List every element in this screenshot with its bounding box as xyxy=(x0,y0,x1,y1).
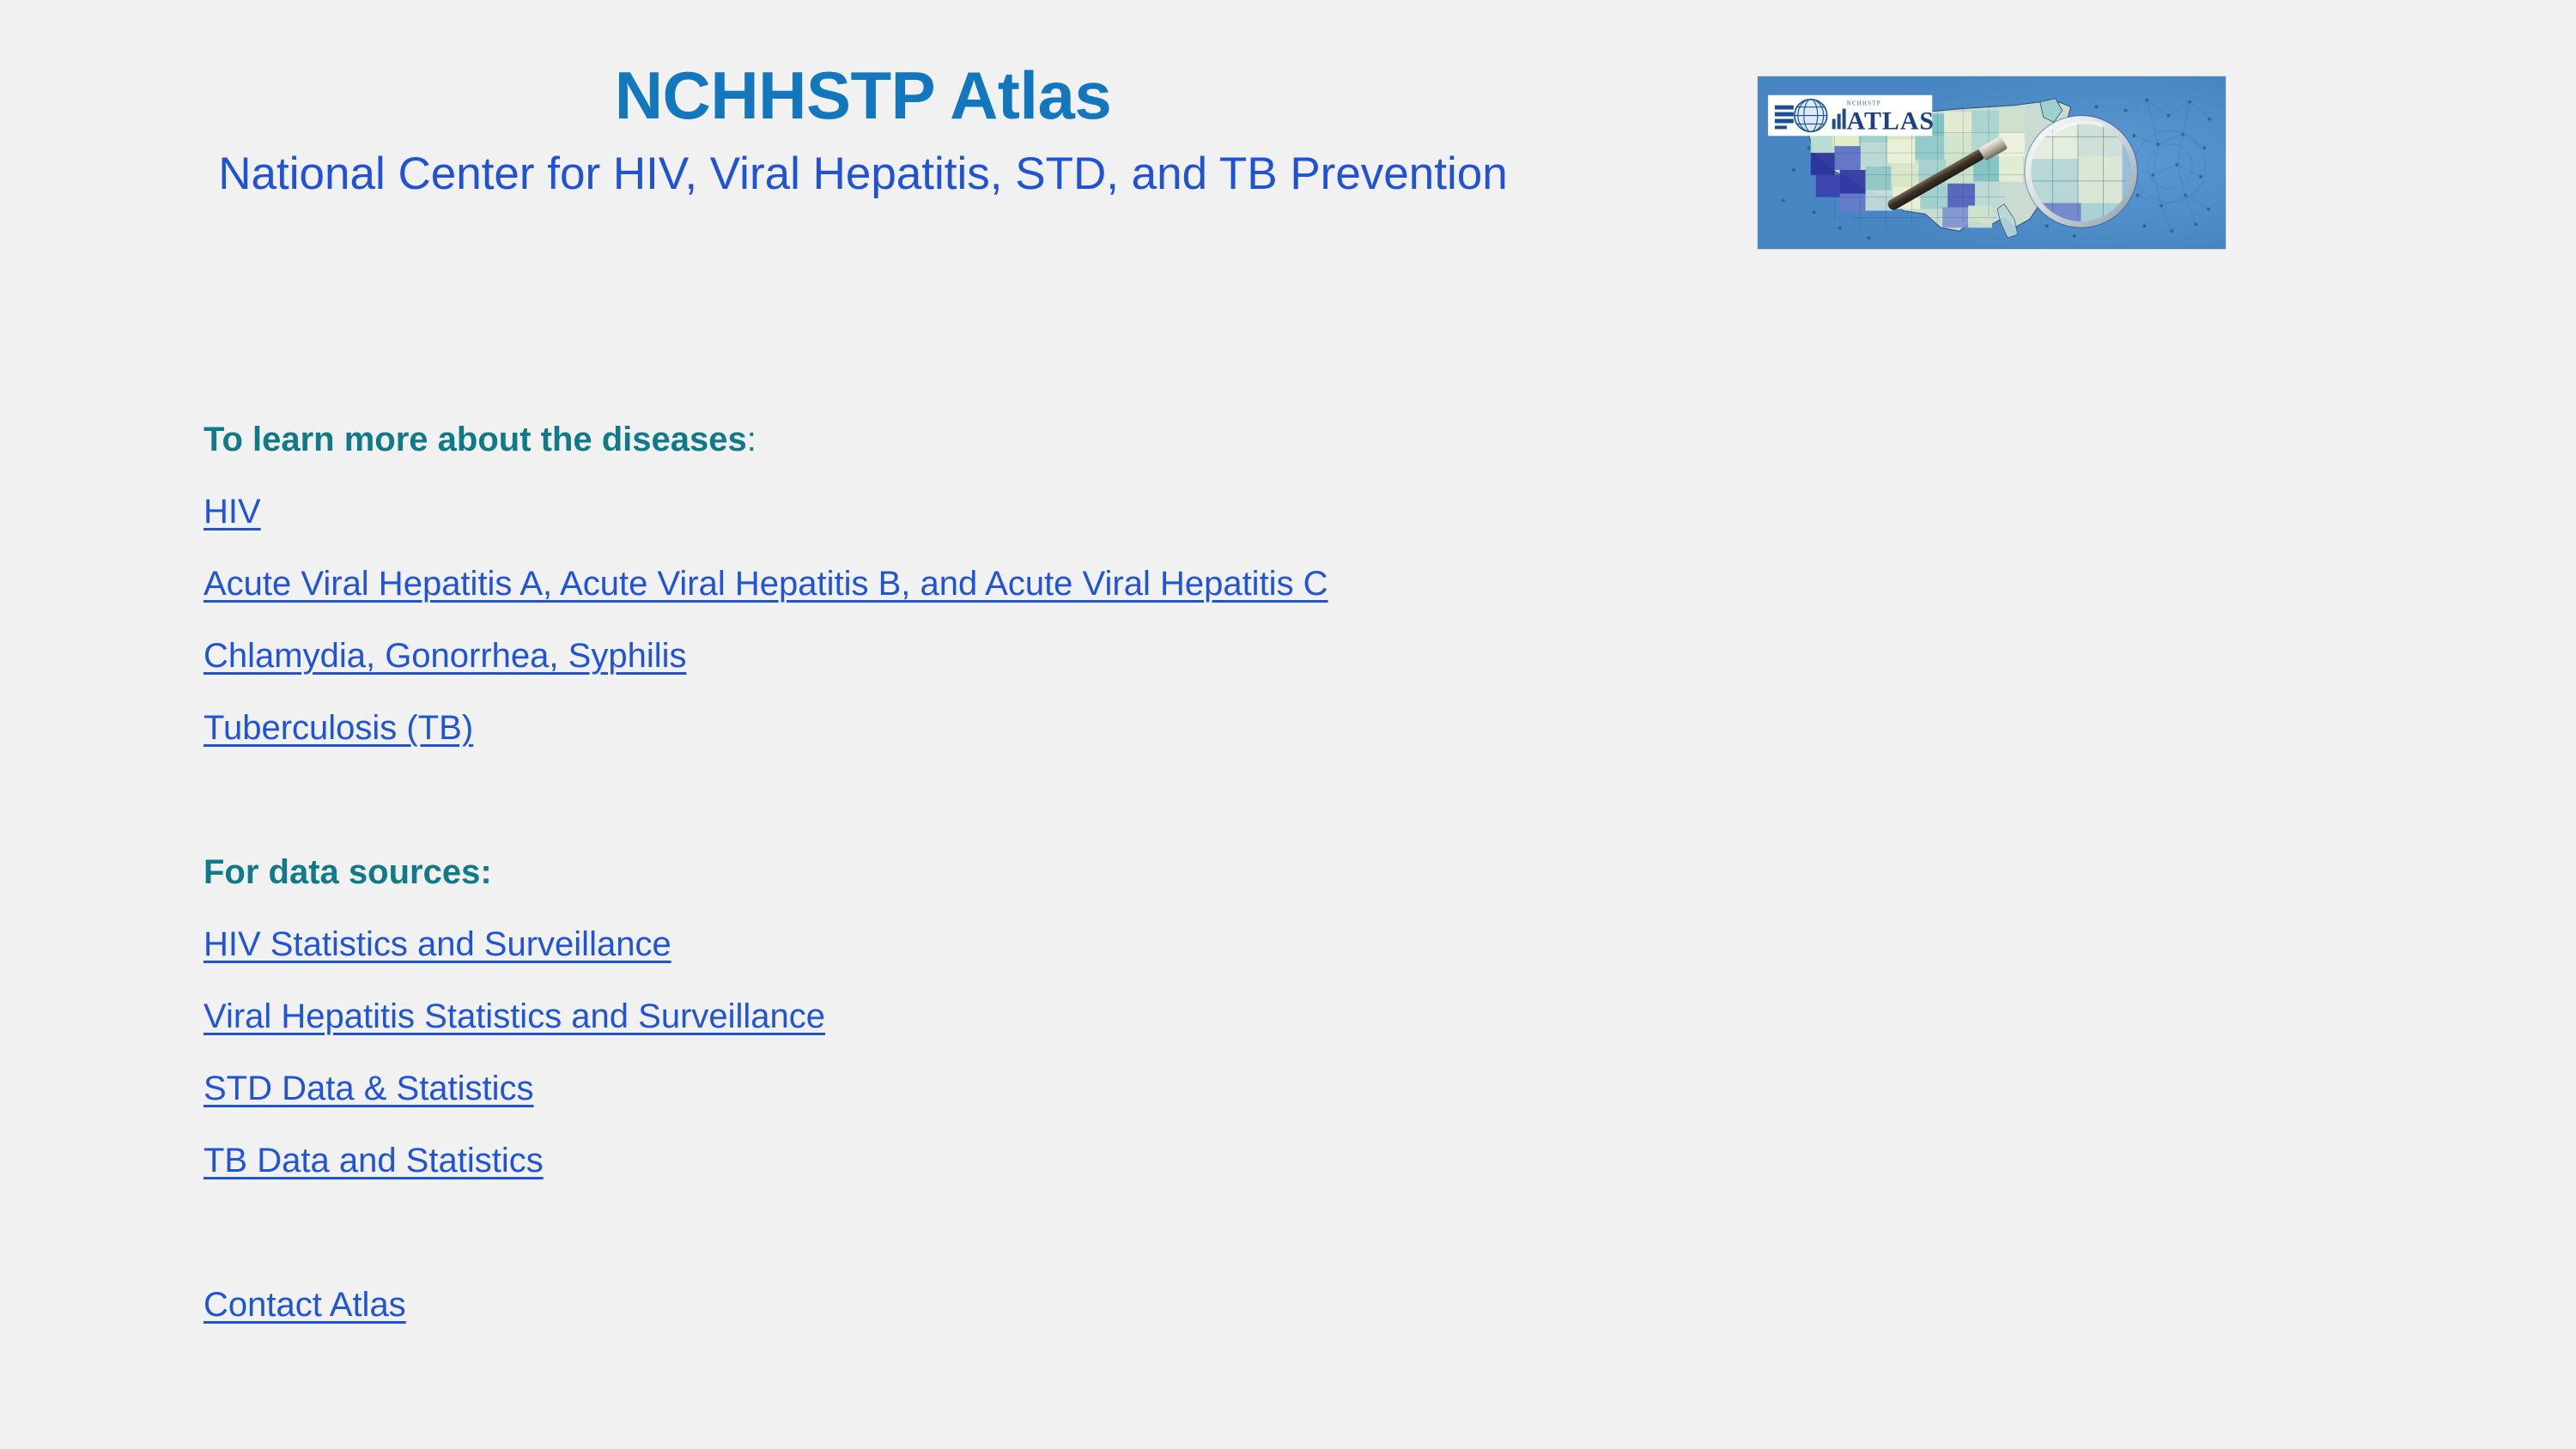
link-acute-viral-hepatitis[interactable]: Acute Viral Hepatitis A, Acute Viral Hep… xyxy=(204,567,1328,601)
data-sources-heading-bold: For data sources: xyxy=(204,855,492,889)
title-block: NCHHSTP Atlas National Center for HIV, V… xyxy=(0,62,1726,197)
list-item: HIV Statistics and Surveillance xyxy=(204,908,2264,980)
svg-text:ATLAS: ATLAS xyxy=(1847,106,1935,135)
link-tb-data-and-statistics[interactable]: TB Data and Statistics xyxy=(204,1143,544,1178)
link-chlamydia-gonorrhea-syphilis[interactable]: Chlamydia, Gonorrhea, Syphilis xyxy=(204,639,686,673)
link-contact-atlas[interactable]: Contact Atlas xyxy=(204,1288,406,1322)
list-item: TB Data and Statistics xyxy=(204,1125,2264,1197)
list-item: Chlamydia, Gonorrhea, Syphilis xyxy=(204,620,2264,692)
link-std-data-and-statistics[interactable]: STD Data & Statistics xyxy=(204,1071,534,1106)
list-item: STD Data & Statistics xyxy=(204,1052,2264,1125)
diseases-heading-punctuation: : xyxy=(747,422,756,457)
list-item: Viral Hepatitis Statistics and Surveilla… xyxy=(204,980,2264,1052)
main-content: To learn more about the diseases: HIV Ac… xyxy=(204,403,2264,1341)
page-header: NCHHSTP Atlas National Center for HIV, V… xyxy=(0,0,2576,275)
page-title: NCHHSTP Atlas xyxy=(0,62,1726,129)
nchhstp-atlas-logo-banner: NCHHSTP ATLAS xyxy=(1757,76,2227,250)
list-item: Tuberculosis (TB) xyxy=(204,692,2264,764)
diseases-heading-bold: To learn more about the diseases xyxy=(204,422,747,457)
list-item: HIV xyxy=(204,476,2264,548)
contact-row: Contact Atlas xyxy=(204,1269,2264,1341)
list-item: Acute Viral Hepatitis A, Acute Viral Hep… xyxy=(204,548,2264,620)
link-tuberculosis[interactable]: Tuberculosis (TB) xyxy=(204,711,473,745)
link-hiv-statistics-and-surveillance[interactable]: HIV Statistics and Surveillance xyxy=(204,927,671,961)
atlas-wordmark: NCHHSTP ATLAS xyxy=(1768,95,1935,136)
link-viral-hepatitis-statistics-and-surveillance[interactable]: Viral Hepatitis Statistics and Surveilla… xyxy=(204,999,825,1034)
section-gap xyxy=(204,764,2264,836)
contact-gap xyxy=(204,1197,2264,1269)
page-subtitle: National Center for HIV, Viral Hepatitis… xyxy=(0,129,1726,197)
diseases-section-heading: To learn more about the diseases: xyxy=(204,403,2264,476)
atlas-banner-graphic: NCHHSTP ATLAS xyxy=(1758,76,2226,249)
link-hiv[interactable]: HIV xyxy=(204,494,261,529)
diseases-section: To learn more about the diseases: HIV Ac… xyxy=(204,403,2264,764)
svg-text:NCHHSTP: NCHHSTP xyxy=(1847,100,1881,107)
data-sources-section: For data sources: HIV Statistics and Sur… xyxy=(204,836,2264,1197)
data-sources-section-heading: For data sources: xyxy=(204,836,2264,908)
